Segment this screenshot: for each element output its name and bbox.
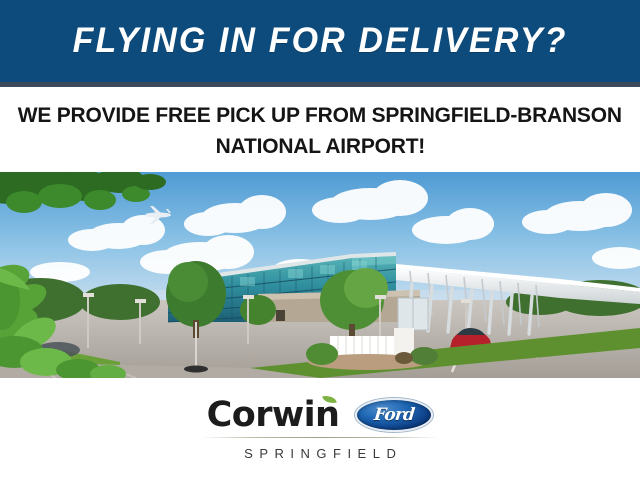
logo-divider: [201, 437, 439, 438]
subtitle-line-2: NATIONAL AIRPORT!: [215, 131, 424, 162]
logo-row: Corwin Ford: [0, 392, 640, 438]
ford-logo-icon: Ford: [355, 398, 433, 432]
airport-terminal-photo: [0, 172, 640, 378]
page-title: FLYING IN FOR DELIVERY?: [73, 21, 568, 61]
dealership-location: SPRINGFIELD: [0, 446, 640, 461]
subtitle-block: WE PROVIDE FREE PICK UP FROM SPRINGFIELD…: [0, 87, 640, 172]
dealership-airport-pickup-ad: FLYING IN FOR DELIVERY? WE PROVIDE FREE …: [0, 0, 640, 480]
header-band: FLYING IN FOR DELIVERY?: [0, 0, 640, 82]
corwin-brand-text: Corwin: [207, 395, 340, 435]
airport-photo-illustration: [0, 172, 640, 378]
ford-badge-text: Ford: [373, 405, 415, 425]
subtitle-line-1: WE PROVIDE FREE PICK UP FROM SPRINGFIELD…: [18, 100, 622, 131]
corwin-wordmark: Corwin: [207, 398, 340, 433]
dealership-logo-footer: Corwin Ford SPRINGFIELD: [0, 378, 640, 480]
